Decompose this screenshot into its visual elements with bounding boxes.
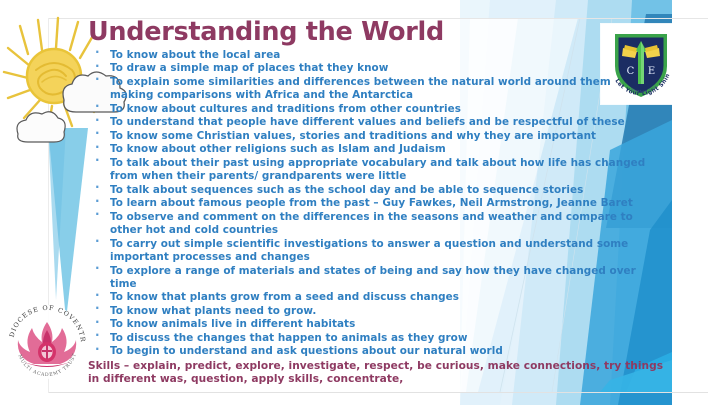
diocese-of-coventry-logo: DIOCESE OF COVENTRY MULTI ACADEMY TRUST xyxy=(4,296,90,386)
list-item: time xyxy=(88,278,608,291)
list-item: To explain some similarities and differe… xyxy=(88,76,608,89)
list-item: To draw a simple map of places that they… xyxy=(88,62,608,75)
list-item: To talk about their past using appropria… xyxy=(88,157,608,170)
slide-frame-bottom xyxy=(48,392,708,393)
list-item: To know what plants need to grow. xyxy=(88,305,608,318)
diocese-arc-top: DIOCESE OF COVENTRY xyxy=(4,296,87,343)
school-crest-logo: C E Let Your Light Shine Matthew 5:16 xyxy=(601,24,681,104)
cloud-icon-secondary xyxy=(17,112,65,142)
list-item: To know animals live in different habita… xyxy=(88,318,608,331)
slide-content: Understanding the World To know about th… xyxy=(88,19,608,386)
list-item: from when their parents/ grandparents we… xyxy=(88,170,608,183)
list-item: To observe and comment on the difference… xyxy=(88,211,608,224)
objectives-list: To know about the local areaTo draw a si… xyxy=(88,49,608,359)
list-item: other hot and cold countries xyxy=(88,224,608,237)
sun-icon xyxy=(4,18,94,130)
list-item: To know about the local area xyxy=(88,49,608,62)
svg-text:DIOCESE OF COVENTRY: DIOCESE OF COVENTRY xyxy=(4,296,87,343)
crest-initial-right: E xyxy=(648,66,655,77)
list-item: To know some Christian values, stories a… xyxy=(88,130,608,143)
slide-frame-left xyxy=(48,18,49,393)
list-item: To understand that people have different… xyxy=(88,116,608,129)
skills-block: Skills – explain, predict, explore, inve… xyxy=(88,360,608,387)
sun-disc xyxy=(27,49,81,103)
list-item: making comparisons with Africa and the A… xyxy=(88,89,608,102)
skills-line-1: Skills – explain, predict, explore, inve… xyxy=(88,360,608,373)
list-item: To carry out simple scientific investiga… xyxy=(88,238,608,251)
list-item: To know that plants grow from a seed and… xyxy=(88,291,608,304)
list-item: important processes and changes xyxy=(88,251,608,264)
list-item: To know about cultures and traditions fr… xyxy=(88,103,608,116)
page-title: Understanding the World xyxy=(88,19,608,46)
list-item: To explore a range of materials and stat… xyxy=(88,265,608,278)
list-item: To know about other religions such as Is… xyxy=(88,143,608,156)
list-item: To begin to understand and ask questions… xyxy=(88,345,608,358)
crest-initial-left: C xyxy=(627,66,635,77)
presentation-slide: DIOCESE OF COVENTRY MULTI ACADEMY TRUST xyxy=(0,0,720,405)
list-item: To talk about sequences such as the scho… xyxy=(88,184,608,197)
list-item: To learn about famous people from the pa… xyxy=(88,197,608,210)
diocese-flame-emblem xyxy=(18,322,76,367)
skills-line-2: in different was, question, apply skills… xyxy=(88,373,608,386)
list-item: To discuss the changes that happen to an… xyxy=(88,332,608,345)
